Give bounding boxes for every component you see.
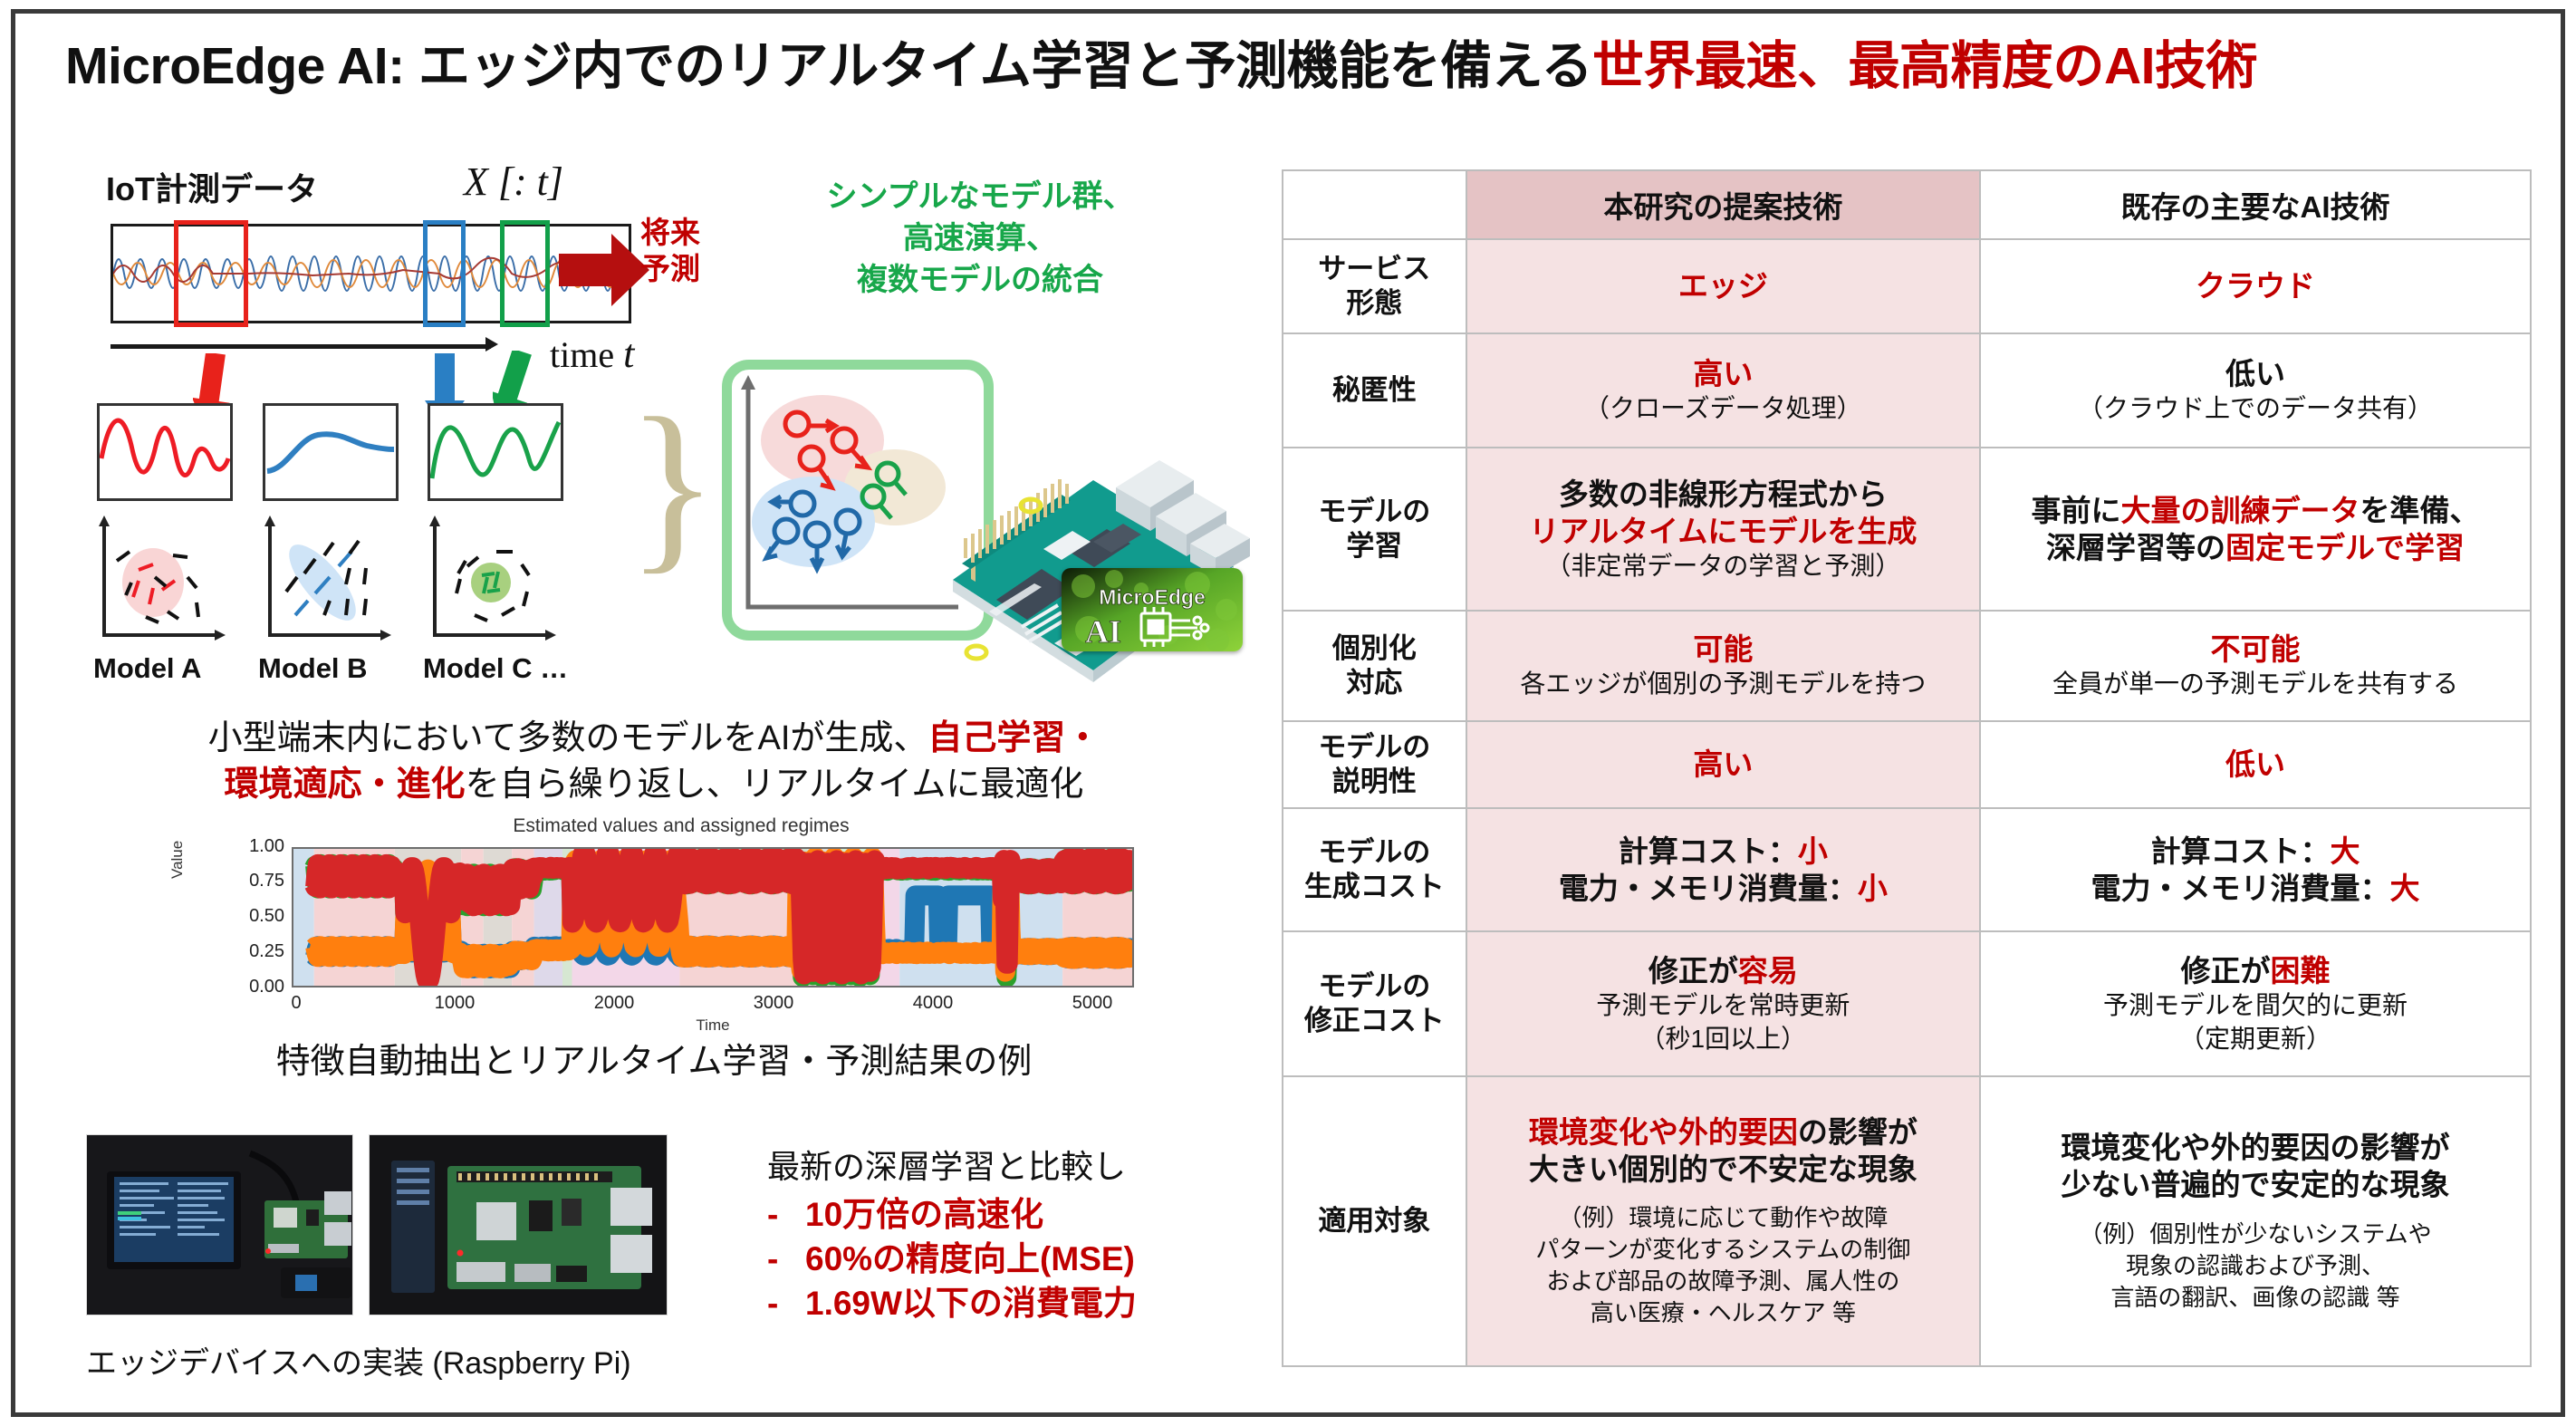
cell-main: 低い: [2225, 747, 2285, 781]
cell-main: 多数の非線形方程式から: [1559, 477, 1888, 511]
cell-line1-red: 小: [1798, 834, 1828, 868]
time-axis-label: time t: [550, 331, 634, 377]
results-lead: 最新の深層学習と比較し: [767, 1146, 1256, 1189]
cell-main: 環境変化や外的要因の影響が: [2062, 1131, 2450, 1164]
cell-proposed-gencost: 計算コスト：小 電力・メモリ消費量：小: [1466, 808, 1980, 931]
xtick-5000: 5000: [1072, 993, 1113, 1014]
self-learning-sentence: 小型端末内において多数のモデルをAIが生成、自己学習・環境適応・進化を自ら繰り返…: [65, 716, 1243, 807]
chart-ylabel: Value: [168, 841, 187, 879]
cell-proposed-application: 環境変化や外的要因の影響が 大きい個別的で不安定な現象 （例）環境に応じて動作や…: [1466, 1076, 1980, 1366]
rowhead-personalization: 個別化対応: [1283, 611, 1466, 721]
cell-existing-confidentiality: 低い （クラウド上でのデータ共有）: [1980, 333, 2531, 448]
green-headline: シンプルなモデル群、高速演算、複数モデルの統合: [767, 177, 1193, 302]
rowhead-model-learning: モデルの学習: [1283, 448, 1466, 611]
cell-sub: 各エッジが個別の予測モデルを持つ: [1520, 670, 1926, 698]
table-row: モデルの説明性 高い 低い: [1283, 721, 2531, 808]
xtick-4000: 4000: [913, 993, 954, 1014]
model-b-phase-diagram: [263, 514, 399, 648]
cell-main-red: 困難: [2271, 954, 2331, 988]
cell-main-pre: 修正が: [1648, 954, 1738, 988]
cell-sub-l2: （秒1回以上）: [1640, 1025, 1807, 1053]
svg-text:AI: AI: [1085, 613, 1121, 650]
cell-sub-l2: 現象の認識および予測、: [2126, 1252, 2385, 1279]
cell-main: 不可能: [2211, 632, 2301, 666]
cell-main-red: 大量の訓練データ: [2121, 494, 2360, 527]
cell-main2-red: 固定モデルで学習: [2225, 531, 2465, 564]
model-a-label: Model A: [93, 652, 201, 685]
time-axis-arrowhead-icon: [485, 337, 498, 352]
cell-main2: 少ない普遍的で安定的な現象: [2062, 1168, 2450, 1201]
cell-sub-l1: 予測モデルを間欠的に更新: [2103, 991, 2408, 1019]
regimes-chart: Estimated values and assigned regimes Va…: [174, 815, 1188, 1037]
x-notation-label: X [: t]: [464, 159, 563, 205]
cell-sub-l2: （定期更新）: [2179, 1025, 2331, 1053]
rowhead-modify-cost: モデルの修正コスト: [1283, 931, 1466, 1076]
cell-existing-personalization: 不可能 全員が単一の予測モデルを共有する: [1980, 611, 2531, 721]
cell-sub-l3: および部品の故障予測、属人性の: [1546, 1267, 1899, 1295]
microedge-ai-badge: MicroEdge AI: [1062, 568, 1243, 651]
bullet-dash-3: -: [767, 1281, 805, 1325]
spacer: [1986, 1204, 2524, 1219]
cell-sub-l4: 高い医療・ヘルスケア 等: [1591, 1299, 1856, 1326]
table-row: モデルの修正コスト 修正が容易 予測モデルを常時更新 （秒1回以上） 修正が困難…: [1283, 931, 2531, 1076]
model-c-waveform-box: [428, 403, 563, 501]
table-row: 適用対象 環境変化や外的要因の影響が 大きい個別的で不安定な現象 （例）環境に応…: [1283, 1076, 2531, 1366]
table-row: 秘匿性 高い （クローズデータ処理） 低い （クラウド上でのデータ共有）: [1283, 333, 2531, 448]
left-panel: IoT計測データ X [: t] time t 将: [15, 14, 1274, 1421]
result-item-power: -1.69W以下の消費電力: [767, 1281, 1256, 1325]
cell-main2: リアルタイムにモデルを生成: [1529, 515, 1917, 548]
cell-proposed-explainability: 高い: [1466, 721, 1980, 808]
cell-main: 可能: [1693, 632, 1753, 666]
ytick-0.50: 0.50: [249, 906, 284, 927]
sentence-red1: 自己学習・: [928, 719, 1100, 757]
cell-line1-pre: 計算コスト：: [1619, 834, 1798, 868]
results-block: 最新の深層学習と比較し -10万倍の高速化 -60%の精度向上(MSE) -1.…: [767, 1146, 1256, 1325]
model-b-waveform-box: [263, 403, 399, 501]
selection-window-red: [174, 220, 248, 327]
chart-caption: 特徴自動抽出とリアルタイム学習・予測結果の例: [65, 1033, 1243, 1083]
svg-text:MicroEdge: MicroEdge: [1099, 585, 1206, 609]
cell-text: エッジ: [1678, 269, 1768, 303]
chart-title: Estimated values and assigned regimes: [174, 815, 1188, 837]
cell-sub: （クラウド上でのデータ共有）: [2078, 394, 2433, 422]
xtick-1000: 1000: [435, 993, 476, 1014]
selection-window-blue: [423, 220, 466, 327]
table-row: 個別化対応 可能 各エッジが個別の予測モデルを持つ 不可能 全員が単一の予測モデ…: [1283, 611, 2531, 721]
cell-main-post: を準備、: [2360, 494, 2480, 527]
cell-existing-service: クラウド: [1980, 239, 2531, 333]
title-red: 世界最速、最高精度のAI技術: [1592, 37, 2257, 95]
model-b-label: Model B: [258, 652, 368, 685]
chart-yticks: 1.00 0.75 0.50 0.25 0.00: [210, 847, 284, 988]
cell-line2-pre: 電力・メモリ消費量：: [1559, 872, 1858, 905]
cell-text: クラウド: [2196, 269, 2315, 303]
cell-main-pre: 修正が: [2181, 954, 2271, 988]
future-prediction-label: 将来予測: [640, 215, 700, 288]
ytick-1.00: 1.00: [249, 836, 284, 857]
chart-svg: [293, 849, 1132, 986]
slide-frame: MicroEdge AI: エッジ内でのリアルタイム学習と予測機能を備える世界最…: [11, 9, 2565, 1417]
model-c-phase-diagram: [428, 514, 563, 648]
cell-proposed-learning: 多数の非線形方程式から リアルタイムにモデルを生成 （非定常データの学習と予測）: [1466, 448, 1980, 611]
cell-main-pre: 事前に: [2032, 494, 2121, 527]
cell-line1-pre: 計算コスト：: [2151, 834, 2331, 868]
cell-existing-modcost: 修正が困難 予測モデルを間欠的に更新 （定期更新）: [1980, 931, 2531, 1076]
cell-main: 高い: [1693, 357, 1753, 390]
header-blank-cell: [1283, 170, 1466, 239]
bullet-dash-1: -: [767, 1192, 805, 1237]
sentence-part1: 小型端末内において多数のモデルをAIが生成、: [208, 719, 928, 757]
rowhead-confidentiality: 秘匿性: [1283, 333, 1466, 448]
future-prediction-arrow-icon: [559, 231, 649, 309]
cell-proposed-service: エッジ: [1466, 239, 1980, 333]
header-existing: 既存の主要なAI技術: [1980, 170, 2531, 239]
cell-line1-red: 大: [2331, 834, 2360, 868]
table-row: サービス形態 エッジ クラウド: [1283, 239, 2531, 333]
cell-main: 高い: [1693, 747, 1753, 781]
cell-existing-application: 環境変化や外的要因の影響が 少ない普遍的で安定的な現象 （例）個別性が少ないシス…: [1980, 1076, 2531, 1366]
ytick-0.75: 0.75: [249, 871, 284, 891]
model-a-phase-diagram: [97, 514, 233, 648]
selection-window-green: [500, 220, 550, 327]
grouping-brace-icon: }: [627, 390, 718, 580]
result-power-text: 1.69W以下の消費電力: [805, 1285, 1137, 1322]
rowhead-generation-cost: モデルの生成コスト: [1283, 808, 1466, 931]
cell-line2-red: 大: [2390, 872, 2420, 905]
photo-caption: エッジデバイスへの実装 (Raspberry Pi): [86, 1338, 631, 1383]
result-accuracy-text: 60%の精度向上(MSE): [805, 1240, 1135, 1277]
model-c-label: Model C …: [423, 652, 568, 685]
cell-main-red: 環境変化や外的要因: [1529, 1115, 1798, 1149]
xtick-3000: 3000: [754, 993, 794, 1014]
cell-sub-l2: パターンが変化するシステムの制御: [1535, 1236, 1910, 1263]
ytick-0.25: 0.25: [249, 941, 284, 962]
cell-main: 低い: [2225, 357, 2285, 390]
rowhead-explainability: モデルの説明性: [1283, 721, 1466, 808]
table-header-row: 本研究の提案技術 既存の主要なAI技術: [1283, 170, 2531, 239]
cell-proposed-modcost: 修正が容易 予測モデルを常時更新 （秒1回以上）: [1466, 931, 1980, 1076]
header-proposed: 本研究の提案技術: [1466, 170, 1980, 239]
model-a-waveform-box: [97, 403, 233, 501]
cell-existing-gencost: 計算コスト：大 電力・メモリ消費量：大: [1980, 808, 2531, 931]
ytick-0.00: 0.00: [249, 977, 284, 997]
cell-sub: （クローズデータ処理）: [1584, 394, 1862, 422]
iot-data-label: IoT計測データ: [106, 163, 318, 210]
table-row: モデルの生成コスト 計算コスト：小 電力・メモリ消費量：小 計算コスト：大 電力…: [1283, 808, 2531, 931]
cell-sub-l1: （例）環境に応じて動作や故障: [1558, 1204, 1888, 1231]
cell-proposed-confidentiality: 高い （クローズデータ処理）: [1466, 333, 1980, 448]
chart-xlabel: Time: [292, 1017, 1134, 1035]
sentence-part2: を自ら繰り返し、リアルタイムに最適化: [466, 766, 1084, 804]
bullet-dash-2: -: [767, 1237, 805, 1281]
result-speed-text: 10万倍の高速化: [805, 1196, 1043, 1233]
result-item-accuracy: -60%の精度向上(MSE): [767, 1237, 1256, 1281]
cell-line2-pre: 電力・メモリ消費量：: [2091, 872, 2390, 905]
cell-proposed-personalization: 可能 各エッジが個別の予測モデルを持つ: [1466, 611, 1980, 721]
xtick-2000: 2000: [594, 993, 635, 1014]
cell-main2-pre: 深層学習等の: [2046, 531, 2225, 564]
cell-existing-learning: 事前に大量の訓練データを準備、 深層学習等の固定モデルで学習: [1980, 448, 2531, 611]
cell-sub-l1: 予測モデルを常時更新: [1596, 991, 1850, 1019]
sentence-red2: 環境適応・進化: [225, 766, 466, 804]
cell-existing-explainability: 低い: [1980, 721, 2531, 808]
photo-pi-board: [369, 1134, 668, 1315]
cell-main-red: 容易: [1738, 954, 1798, 988]
comparison-table-wrapper: 本研究の提案技術 既存の主要なAI技術 サービス形態 エッジ クラウド 秘匿性 …: [1282, 169, 2532, 1367]
xtick-0: 0: [291, 993, 301, 1014]
cell-main-post: の影響が: [1798, 1115, 1918, 1149]
table-row: モデルの学習 多数の非線形方程式から リアルタイムにモデルを生成 （非定常データ…: [1283, 448, 2531, 611]
spacer: [1473, 1188, 1974, 1202]
chart-plot-area: [292, 847, 1134, 988]
cell-line2-red: 小: [1858, 872, 1888, 905]
cell-sub: 全員が単一の予測モデルを共有する: [2052, 670, 2458, 698]
rowhead-application-target: 適用対象: [1283, 1076, 1466, 1366]
results-list: -10万倍の高速化 -60%の精度向上(MSE) -1.69W以下の消費電力: [767, 1192, 1256, 1326]
comparison-table: 本研究の提案技術 既存の主要なAI技術 サービス形態 エッジ クラウド 秘匿性 …: [1282, 169, 2532, 1367]
photo-display-and-pi: [86, 1134, 353, 1315]
result-item-speed: -10万倍の高速化: [767, 1192, 1256, 1237]
cell-sub: （非定常データの学習と予測）: [1545, 552, 1900, 580]
cell-sub-l1: （例）個別性が少ないシステムや: [2079, 1220, 2431, 1248]
rowhead-service-form: サービス形態: [1283, 239, 1466, 333]
cell-main2: 大きい個別的で不安定な現象: [1529, 1152, 1918, 1186]
cell-sub-l3: 言語の翻訳、画像の認識 等: [2110, 1284, 2399, 1311]
time-axis-line: [111, 344, 491, 349]
